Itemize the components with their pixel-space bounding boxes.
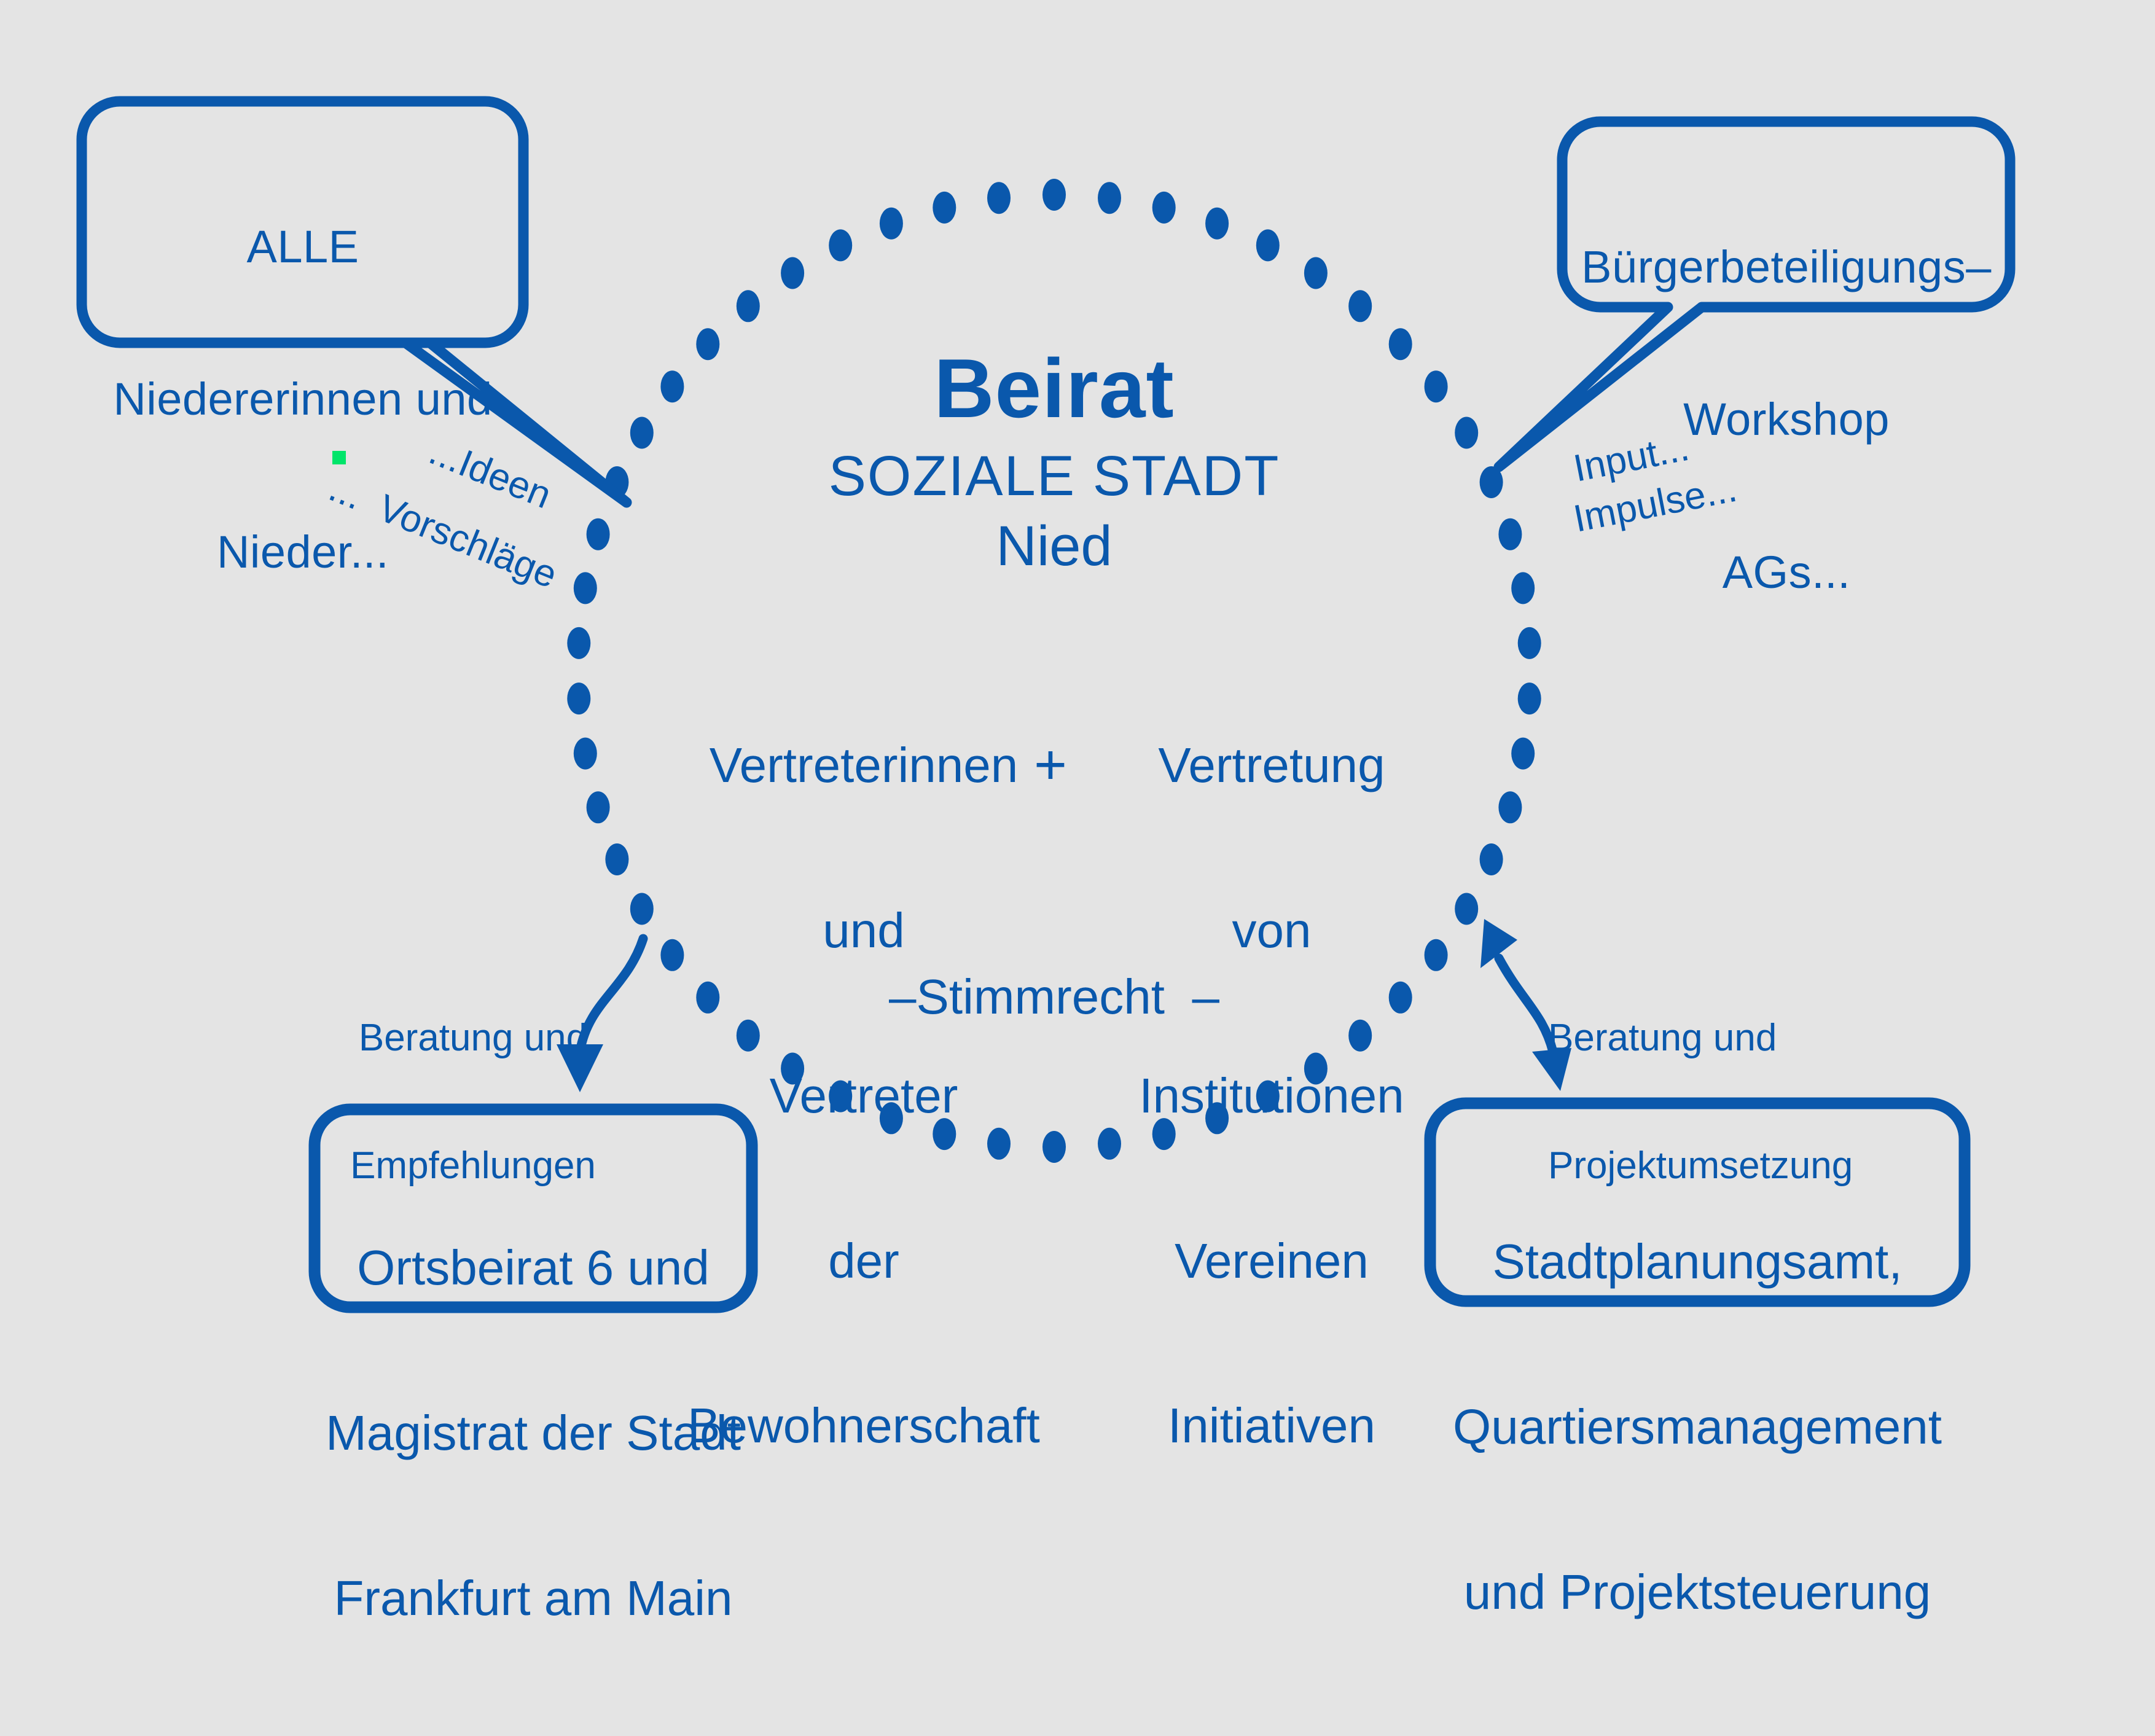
caption-bottom-left-line-1: Beratung und — [344, 1017, 602, 1059]
ring-dot — [987, 182, 1011, 214]
ring-dot — [1425, 370, 1448, 402]
right-column-line-2: von — [1100, 903, 1444, 958]
ring-dot — [1455, 417, 1478, 449]
ring-dot — [1098, 182, 1121, 214]
ring-dot — [1348, 290, 1372, 322]
ring-dot — [630, 417, 654, 449]
page-title: Beirat — [747, 342, 1361, 435]
bubble-left-line-1: ALLE — [82, 222, 524, 273]
ring-dot — [880, 208, 903, 240]
bubble-right-line-1: Bürgerbeteiligungs– — [1562, 242, 2011, 293]
box-bottom-left-line-1: Ortsbeirat 6 und — [315, 1240, 752, 1296]
green-marker-dot — [332, 451, 346, 464]
box-bottom-right-line-1: Stadtplanungsamt, — [1430, 1234, 1965, 1289]
ring-dot — [1042, 179, 1066, 211]
ring-dot — [574, 572, 597, 604]
diagram-canvas: ALLE Niedererinnen und Nieder... Bürgerb… — [0, 0, 2155, 1524]
box-bottom-right-line-2: Quartiersmanagement — [1430, 1399, 1965, 1455]
ring-dot — [1389, 328, 1412, 360]
ring-dot — [781, 257, 804, 289]
bubble-right-text: Bürgerbeteiligungs– Workshop AGs... — [1562, 140, 2011, 700]
ring-dot — [1455, 893, 1478, 925]
ring-dot — [1256, 229, 1280, 261]
subtitle-line-2: Nied — [747, 515, 1361, 578]
right-column-line-4: Vereinen — [1100, 1234, 1444, 1289]
bubble-left-text: ALLE Niedererinnen und Nieder... — [82, 120, 524, 680]
box-bottom-right-line-3: und Projektsteuerung — [1430, 1565, 1965, 1620]
bubble-left-line-2: Niedererinnen und — [82, 374, 524, 425]
right-column: Vertretung von Institutionen Vereinen In… — [1100, 628, 1444, 1563]
ring-dot — [1511, 572, 1535, 604]
bubble-right-line-3: AGs... — [1562, 547, 2011, 598]
ring-dot — [1498, 791, 1522, 823]
left-column-line-2: und — [673, 903, 1054, 958]
ring-dot — [1480, 843, 1503, 875]
ring-dot — [660, 370, 684, 402]
right-column-line-1: Vertretung — [1100, 738, 1444, 793]
ring-dot — [829, 229, 852, 261]
subtitle-line-1: SOZIALE STADT — [747, 445, 1361, 508]
ring-dot — [630, 893, 654, 925]
plus-operator: + — [995, 733, 1106, 797]
ring-dot — [1498, 518, 1522, 550]
left-column-line-3: Vertreter — [673, 1068, 1054, 1124]
ring-dot — [1511, 738, 1535, 770]
stimmrecht-note: –Stimmrecht – — [808, 969, 1300, 1025]
ring-dot — [737, 290, 760, 322]
ring-dot — [1518, 627, 1541, 659]
ring-dot — [587, 791, 610, 823]
ring-dot — [574, 738, 597, 770]
ring-dot — [587, 518, 610, 550]
ring-dot — [605, 843, 628, 875]
ring-dot — [567, 682, 590, 714]
right-column-line-5: Initiativen — [1100, 1398, 1444, 1453]
box-bottom-left-line-2: Magistrat der Stadt — [315, 1406, 752, 1461]
ring-dot — [1518, 682, 1541, 714]
box-bottom-left-line-3: Frankfurt am Main — [315, 1571, 752, 1626]
ring-dot — [567, 627, 590, 659]
ring-dot — [1304, 257, 1328, 289]
box-bottom-right-text: Stadtplanungsamt, Quartiersmanagement un… — [1430, 1124, 1965, 1730]
ring-dot — [696, 328, 719, 360]
caption-bottom-right-line-1: Beratung und — [1548, 1017, 1868, 1059]
right-column-line-3: Institutionen — [1100, 1068, 1444, 1124]
ring-dot — [1152, 192, 1176, 224]
ring-dot — [933, 192, 956, 224]
box-bottom-left-text: Ortsbeirat 6 und Magistrat der Stadt Fra… — [315, 1130, 752, 1736]
ring-dot — [1205, 208, 1229, 240]
